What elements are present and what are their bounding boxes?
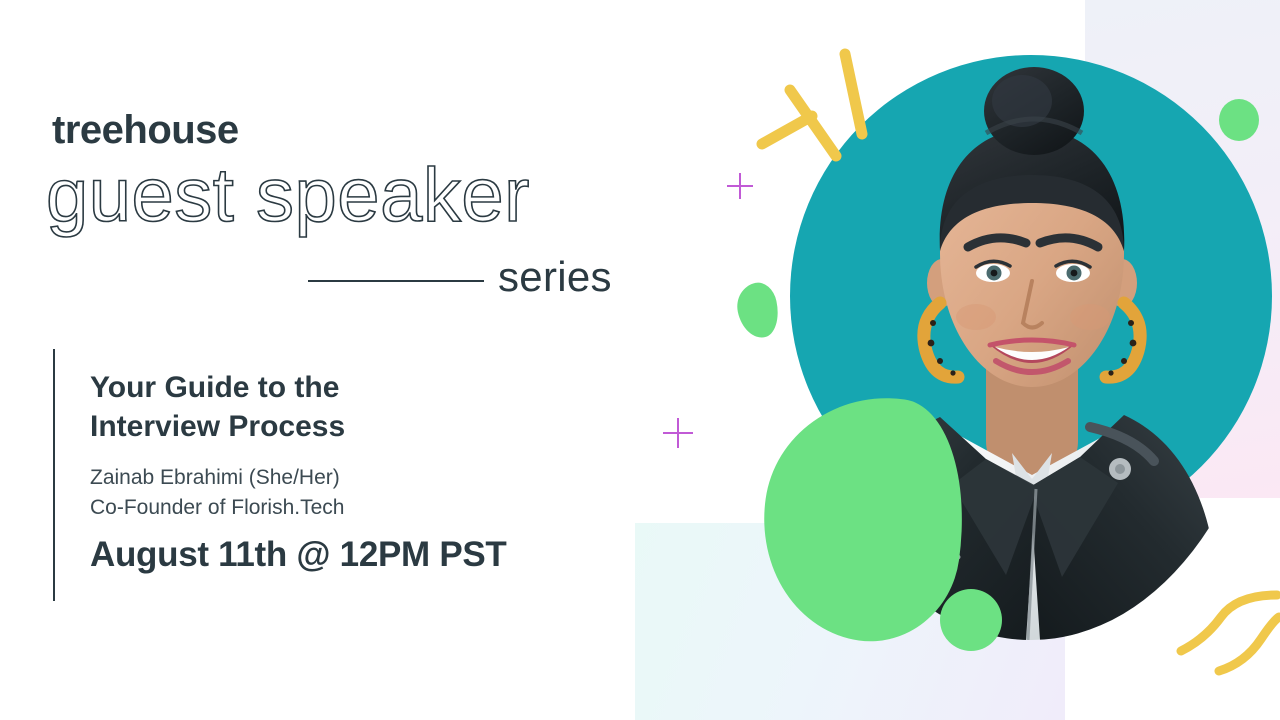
- event-datetime: August 11th @ 12PM PST: [90, 536, 650, 575]
- talk-title: Your Guide to the Interview Process: [90, 368, 650, 446]
- series-label: series: [498, 256, 612, 298]
- yellow-wave-strokes-icon: [1175, 585, 1280, 685]
- talk-details: Your Guide to the Interview Process Zain…: [90, 368, 650, 575]
- green-blob-icon-small-top: [733, 279, 784, 341]
- green-circle-icon-bottom: [940, 589, 1002, 651]
- talk-details-vertical-rule: [53, 349, 55, 601]
- green-circle-icon-top-right: [1219, 99, 1259, 141]
- treehouse-brand-logo: treehouse: [52, 110, 239, 150]
- series-divider-rule: [308, 280, 484, 282]
- speaker-role: Co-Founder of Florish.Tech: [90, 493, 650, 523]
- page-title-outline: guest speaker: [46, 158, 530, 234]
- speaker-name: Zainab Ebrahimi (She/Her): [90, 463, 650, 493]
- content-column: treehouse guest speaker series Your Guid…: [0, 0, 700, 720]
- plus-mark-icon-top: [727, 173, 753, 199]
- guest-speaker-promo-slide: treehouse guest speaker series Your Guid…: [0, 0, 1280, 720]
